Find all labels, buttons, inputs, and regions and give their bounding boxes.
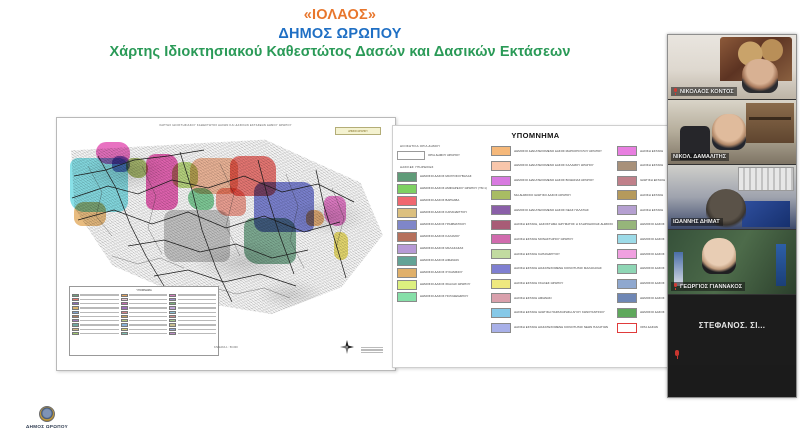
legend-swatch <box>397 268 417 278</box>
map-inset-label <box>80 303 118 304</box>
legend-label: ΔΗΜΟΣΙΟ ΔΙΑΚΑΤΕΧΟΜΕΝΟ ΔΑΣΟΣ ΒΟΘΩΝΑΣ ΩΡΩΠ… <box>514 179 613 182</box>
legend-row: ΔΗΜΟΣΙΟ ΔΑΣΟΣ ΚΑΛΑΜΟΥ <box>397 231 487 243</box>
legend-row: ΔΗΜΟΣΙΟ ΔΙΑΚΑΤΕΧΟΜΕΝΟ ΔΑΣΟΣ ΜΑΡΚΟΠΟΥΛΟΥ … <box>491 144 613 159</box>
map-inset-legend-row <box>72 294 119 297</box>
legend-swatch <box>491 279 511 289</box>
municipality-seal-icon <box>39 406 55 422</box>
legend-subheading-admin: ΔΙΟΙΚΗΤΙΚΑ ΟΡΙΑ ΔΗΜΟΥ <box>400 144 487 148</box>
map-inset-swatch <box>121 328 128 331</box>
legend-row-boundary: ΟΡΙΑ ΔΗΜΟΥ ΩΡΩΠΟΥ <box>397 149 487 162</box>
map-region-orange-e <box>306 210 324 226</box>
map-inset-legend-row <box>169 306 216 309</box>
map-inset-legend: ΥΠΟΜΝΗΜΑ <box>69 286 219 356</box>
legend-row: ΔΗΜΟΣΙΟ ΔΑΣΟΣ ΚΑΠΑΝΔΡΙΤΙΟΥ <box>397 207 487 219</box>
map-inset-label <box>80 333 118 334</box>
map-inset-swatch <box>72 298 79 301</box>
map-inset-swatch <box>121 332 128 335</box>
map-inset-legend-row <box>121 294 168 297</box>
legend-swatch <box>617 220 637 230</box>
legend-row: ΔΑΣΙΚΗ ΕΚΤΑΣΗ ΔΙΑΚΑΤΕΧΟΜΕΝΗ ΚΟΙΝΟΤΗΤΑΣ Μ… <box>491 262 613 277</box>
legend-label: ΔΑΣΙΚΗ ΕΚΤΑΣΗ ΔΙΑΚΑΤΕΧΟΜΕΝΗ ΚΟΙΝΟΤΗΤΑΣ Ν… <box>514 326 613 329</box>
map-inset-label <box>80 329 118 330</box>
legend-label: ΔΗΜΟΣΙΟ ΔΑΣΟΣ ΜΑΛΑΚΑΣΑΣ <box>420 247 487 250</box>
map-inset-swatch <box>72 294 79 297</box>
map-inset-swatch <box>169 332 176 335</box>
map-credit-block <box>361 347 383 354</box>
legend-swatch <box>491 249 511 259</box>
map-inset-legend-row <box>121 311 168 314</box>
map-inset-swatch <box>72 323 79 326</box>
map-inset-legend-columns <box>70 292 218 336</box>
map-inset-swatch <box>121 311 128 314</box>
legend-row: ΔΑΣΙΚΗ ΕΚΤΑΣΗ ΔΙΑΚΑΤΕΧΟΜΕΝΗ ΚΟΙΝΟΤΗΤΑΣ Ν… <box>491 320 613 335</box>
legend-panel[interactable]: ΥΠΟΜΝΗΜΑ ΔΙΟΙΚΗΤΙΚΑ ΟΡΙΑ ΔΗΜΟΥ ΟΡΙΑ ΔΗΜΟ… <box>392 125 679 368</box>
map-region-magenta-e <box>324 196 346 226</box>
legend-swatch <box>397 208 417 218</box>
video-participants-panel[interactable]: ΝΙΚΟΛΑΟΣ ΚΟΝΤΟΣ ΝΙΚΟΛ. ΔΑΜΑΛΙΤΗΣ ΙΩΑΝΝΗΣ… <box>667 34 797 398</box>
map-inset-label <box>178 316 216 317</box>
map-inset-legend-row <box>169 315 216 318</box>
microphone-muted-icon <box>673 88 678 95</box>
map-stamp: ΔΗΜΟΣ ΩΡΩΠΟΥ <box>335 127 381 135</box>
legend-label: ΔΗΜΟΣΙΟ ΔΙΑΚΑΤΕΧΟΜΕΝΟ ΔΑΣΟΣ ΚΑΛΑΜΟΥ ΩΡΩΠ… <box>514 164 613 167</box>
legend-swatch <box>397 292 417 302</box>
legend-swatch <box>397 232 417 242</box>
legend-swatch <box>397 196 417 206</box>
map-inset-legend-row <box>121 323 168 326</box>
map-inset-legend-row <box>169 323 216 326</box>
map-inset-legend-column <box>72 294 119 336</box>
map-region-orange-sw <box>74 202 106 226</box>
legend-row: ΔΗΜΟΣΙΟ ΔΑΣΟΣ ΣΚΑΛΑΣ ΩΡΩΠΟΥ <box>397 279 487 291</box>
map-inset-swatch <box>169 319 176 322</box>
map-inset-swatch <box>72 319 79 322</box>
legend-row: ΔΗΜΟΣΙΟ ΔΙΑΚΑΤΕΧΟΜΕΝΟ ΔΑΣΟΣ ΒΟΘΩΝΑΣ ΩΡΩΠ… <box>491 173 613 188</box>
legend-column-1: ΔΙΟΙΚΗΤΙΚΑ ΟΡΙΑ ΔΗΜΟΥ ΟΡΙΑ ΔΗΜΟΥ ΩΡΩΠΟΥ … <box>397 144 487 335</box>
title-line-subject: Χάρτης Ιδιοκτησιακού Καθεστώτος Δασών κα… <box>0 43 680 62</box>
legend-swatch <box>617 176 637 186</box>
legend-label: ΔΗΜΟΣΙΟ ΔΑΣΟΣ ΒΑΡΝΑΒΑ <box>420 199 487 202</box>
legend-label: ΜΗ ΔΗΜΟΣΙΟ ΙΔΙΩΤΙΚΟ ΔΑΣΟΣ ΩΡΩΠΟΥ <box>514 194 613 197</box>
map-inset-label <box>178 307 216 308</box>
legend-row: ΔΗΜΟΣΙΟ ΔΑΣΟΣ ΓΡΑΜΜΑΤΙΚΟΥ <box>397 219 487 231</box>
map-inset-label <box>178 324 216 325</box>
legend-row: ΔΗΜΟΣΙΟ ΔΑΣΟΣ ΑΜΦΙΑΡΕΙΟΥ ΩΡΩΠΟΥ (ΤΜ 1) <box>397 183 487 195</box>
map-inset-legend-row <box>169 302 216 305</box>
legend-column-2: ΔΗΜΟΣΙΟ ΔΙΑΚΑΤΕΧΟΜΕΝΟ ΔΑΣΟΣ ΜΑΡΚΟΠΟΥΛΟΥ … <box>491 144 613 335</box>
map-inset-swatch <box>121 298 128 301</box>
map-inset-legend-row <box>72 328 119 331</box>
map-region-yellow-se <box>334 232 348 260</box>
map-inset-label <box>80 307 118 308</box>
legend-swatch <box>617 161 637 171</box>
map-inset-legend-row <box>72 298 119 301</box>
map-inset-label <box>80 299 118 300</box>
legend-swatch <box>491 308 511 318</box>
map-inset-legend-row <box>169 298 216 301</box>
legend-row: ΜΗ ΔΗΜΟΣΙΟ ΙΔΙΩΤΙΚΟ ΔΑΣΟΣ ΩΡΩΠΟΥ <box>491 188 613 203</box>
flag-right <box>776 244 786 286</box>
map-inset-label <box>178 329 216 330</box>
map-inset-legend-row <box>72 302 119 305</box>
map-inset-label <box>178 320 216 321</box>
legend-label: ΔΑΣΙΚΗ ΕΚΤΑΣΗ ΜΟΝΑΣΤΗΡΙΟΥ ΩΡΩΠΟΥ <box>514 238 613 241</box>
legend-label: ΔΗΜΟΣΙΟ ΔΑΣΟΣ ΑΜΦΙΑΡΕΙΟΥ ΩΡΩΠΟΥ (ΤΜ 1) <box>420 187 487 190</box>
legend-swatch <box>491 146 511 156</box>
video-tile-1[interactable]: ΝΙΚΟΛΑΟΣ ΚΟΝΤΟΣ <box>668 35 796 100</box>
legend-row: ΔΑΣΙΚΗ ΕΚΤΑΣΗ, ΔΑΣΟΚΤΗΜΑ ΙΔΡΥΜΑΤΟΣ Η ΚΛΗ… <box>491 217 613 232</box>
participant-avatar-4 <box>702 238 736 274</box>
map-inset-label <box>129 312 167 313</box>
map-inset-label <box>80 312 118 313</box>
legend-swatch <box>491 205 511 215</box>
participant-name-1: ΝΙΚΟΛΑΟΣ ΚΟΝΤΟΣ <box>680 89 734 95</box>
map-inset-swatch <box>72 306 79 309</box>
participant-namebar-1: ΝΙΚΟΛΑΟΣ ΚΟΝΤΟΣ <box>671 87 737 96</box>
legend-swatch <box>491 234 511 244</box>
legend-row: ΔΑΣΙΚΗ ΕΚΤΑΣΗ ΣΚΑΛΕΣ ΩΡΩΠΟΥ <box>491 276 613 291</box>
title-line-municipality: ΔΗΜΟΣ ΩΡΩΠΟΥ <box>0 25 680 44</box>
map-inset-legend-row <box>169 294 216 297</box>
title-line-project: «ΙΟΛΑΟΣ» <box>0 6 680 25</box>
participant-namebar-3: ΙΩΑΝΝΗΣ ΔΗΜΑΤ <box>671 218 723 226</box>
legend-row: ΔΑΣΙΚΗ ΕΚΤΑΣΗ ΑΦΙΔΝΩΝ <box>491 291 613 306</box>
map-region-grey-s <box>164 210 230 262</box>
map-inset-label <box>178 299 216 300</box>
legend-rows-1: ΔΗΜΟΣΙΟ ΔΑΣΟΣ ΜΑΥΡΟΣΟΥΒΑΛΑΣΔΗΜΟΣΙΟ ΔΑΣΟΣ… <box>397 171 487 303</box>
legend-swatch <box>491 190 511 200</box>
participant-avatar-1 <box>742 59 778 93</box>
map-inset-swatch <box>72 328 79 331</box>
map-inset-legend-row <box>72 311 119 314</box>
legend-swatch <box>491 293 511 303</box>
municipality-logo-label: ΔΗΜΟΣ ΩΡΩΠΟΥ <box>8 424 86 429</box>
legend-swatch <box>617 249 637 259</box>
participant-avatar-2 <box>712 114 746 150</box>
map-inset-swatch <box>121 323 128 326</box>
slide-stage: «ΙΟΛΑΟΣ» ΔΗΜΟΣ ΩΡΩΠΟΥ Χάρτης Ιδιοκτησιακ… <box>0 0 800 435</box>
legend-row: ΔΗΜΟΣΙΟ ΔΙΑΚΑΤΕΧΟΜΕΝΟ ΔΑΣΟΣ ΚΑΛΑΜΟΥ ΩΡΩΠ… <box>491 159 613 174</box>
blue-backdrop <box>742 201 790 227</box>
map-inset-swatch <box>121 302 128 305</box>
microphone-muted-icon <box>674 350 680 359</box>
video-tile-2[interactable]: ΝΙΚΟΛ. ΔΑΜΑΛΙΤΗΣ <box>668 100 796 165</box>
map-inset-swatch <box>72 311 79 314</box>
legend-swatch <box>397 280 417 290</box>
map-inset-legend-column <box>169 294 216 336</box>
map-inset-swatch <box>169 311 176 314</box>
legend-label: ΔΑΣΙΚΗ ΕΚΤΑΣΗ ΔΙΑΚΑΤΕΧΟΜΕΝΗ ΚΟΙΝΟΤΗΤΑΣ Μ… <box>514 267 613 270</box>
legend-swatch <box>491 323 511 333</box>
legend-swatch <box>617 308 637 318</box>
legend-label: ΔΗΜΟΣΙΟ ΔΑΣΟΣ ΓΡΑΜΜΑΤΙΚΟΥ <box>420 223 487 226</box>
legend-swatch <box>397 256 417 266</box>
map-inset-legend-row <box>121 319 168 322</box>
legend-swatch <box>617 190 637 200</box>
map-inset-legend-row <box>72 315 119 318</box>
legend-swatch <box>491 176 511 186</box>
participant-name-2: ΝΙΚΟΛ. ΔΑΜΑΛΙΤΗΣ <box>673 154 726 160</box>
legend-label-boundary: ΟΡΙΑ ΔΗΜΟΥ ΩΡΩΠΟΥ <box>428 154 487 157</box>
map-canvas: ΧΑΡΤΗΣ ΙΔΙΟΚΤΗΣΙΑΚΟΥ ΚΑΘΕΣΤΩΤΟΣ ΔΑΣΩΝ ΚΑ… <box>62 123 389 365</box>
map-inset-swatch <box>121 294 128 297</box>
microphone-muted-icon <box>673 283 678 290</box>
map-inset-label <box>178 303 216 304</box>
map-inset-label <box>178 294 216 295</box>
map-inset-legend-row <box>72 332 119 335</box>
map-inset-legend-row <box>72 319 119 322</box>
municipality-logo: ΔΗΜΟΣ ΩΡΩΠΟΥ <box>8 406 86 429</box>
map-inset-swatch <box>169 315 176 318</box>
map-inset-legend-row <box>72 323 119 326</box>
map-inset-swatch <box>169 323 176 326</box>
map-inset-swatch <box>72 302 79 305</box>
legend-row: ΔΗΜΟΣΙΟ ΔΑΣΟΣ ΒΑΡΝΑΒΑ <box>397 195 487 207</box>
map-inset-label <box>80 324 118 325</box>
map-region-olive-n <box>126 158 148 178</box>
video-tile-3[interactable]: ΙΩΑΝΝΗΣ ΔΗΜΑΤ <box>668 165 796 230</box>
map-inset-label <box>80 294 118 295</box>
map-inset-swatch <box>121 315 128 318</box>
compass-rose-icon <box>339 339 355 355</box>
legend-label: ΔΗΜΟΣΙΟ ΔΙΑΚΑΤΕΧΟΜΕΝΟ ΔΑΣΟΣ ΜΑΡΚΟΠΟΥΛΟΥ … <box>514 150 613 153</box>
legend-label: ΔΑΣΙΚΗ ΕΚΤΑΣΗ, ΔΑΣΟΚΤΗΜΑ ΙΔΡΥΜΑΤΟΣ Η ΚΛΗ… <box>514 223 613 226</box>
map-inset-legend-row <box>169 319 216 322</box>
map-inset-legend-row <box>121 328 168 331</box>
map-inset-legend-row <box>169 311 216 314</box>
legend-label: ΔΗΜΟΣΙΟ ΔΑΣΟΣ ΠΟΛΥΔΕΝΔΡΙΟΥ <box>420 295 487 298</box>
legend-swatch <box>617 205 637 215</box>
map-inset-swatch <box>169 306 176 309</box>
map-inset-swatch <box>72 315 79 318</box>
map-inset-legend-row <box>121 315 168 318</box>
map-inset-label <box>129 324 167 325</box>
storage-cabinet <box>738 167 794 191</box>
legend-swatch <box>617 279 637 289</box>
video-tile-active-speaker[interactable]: ΣΤΕΦΑΝΟΣ. ΣΙ... <box>668 295 796 365</box>
map-inset-label <box>80 316 118 317</box>
legend-label: ΔΗΜΟΣΙΟ ΔΑΣΟΣ ΣΥΚΑΜΙΝΟΥ <box>420 271 487 274</box>
participant-name-3: ΙΩΑΝΝΗΣ ΔΗΜΑΤ <box>673 219 720 225</box>
map-inset-legend-column <box>121 294 168 336</box>
map-scale-text: ΚΛΙΜΑΚΑ 1 : 50.000 <box>214 346 238 349</box>
legend-label: ΔΗΜΟΣΙΟ ΔΑΣΟΣ ΑΦΙΔΝΩΝ <box>420 259 487 262</box>
map-inset-label <box>178 333 216 334</box>
map-inset-label <box>178 312 216 313</box>
map-inset-legend-row <box>169 332 216 335</box>
legend-swatch <box>617 323 637 333</box>
forest-ownership-map[interactable]: ΧΑΡΤΗΣ ΙΔΙΟΚΤΗΣΙΑΚΟΥ ΚΑΘΕΣΤΩΤΟΣ ΔΑΣΩΝ ΚΑ… <box>56 117 396 371</box>
map-inset-legend-row <box>72 306 119 309</box>
legend-swatch <box>491 264 511 274</box>
map-inset-label <box>129 333 167 334</box>
presentation-title-block: «ΙΟΛΑΟΣ» ΔΗΜΟΣ ΩΡΩΠΟΥ Χάρτης Ιδιοκτησιακ… <box>0 6 680 62</box>
legend-label: ΔΑΣΙΚΗ ΕΚΤΑΣΗ ΣΚΑΛΕΣ ΩΡΩΠΟΥ <box>514 282 613 285</box>
legend-label: ΔΗΜΟΣΙΟ ΔΑΣΟΣ ΜΑΥΡΟΣΟΥΒΑΛΑΣ <box>420 175 487 178</box>
map-inset-swatch <box>72 332 79 335</box>
legend-title: ΥΠΟΜΝΗΜΑ <box>393 131 678 140</box>
map-inset-label <box>129 320 167 321</box>
legend-row: ΔΗΜΟΣΙΟ ΔΑΣΟΣ ΜΑΛΑΚΑΣΑΣ <box>397 243 487 255</box>
map-inset-swatch <box>121 306 128 309</box>
legend-row: ΔΗΜΟΣΙΟ ΔΑΣΟΣ ΠΟΛΥΔΕΝΔΡΙΟΥ <box>397 291 487 303</box>
map-inset-legend-row <box>121 302 168 305</box>
map-inset-label <box>129 294 167 295</box>
legend-swatch <box>397 184 417 194</box>
legend-label: ΔΗΜΟΣΙΟ ΔΙΑΚΑΤΕΧΟΜΕΝΟ ΔΑΣΟΣ ΝΕΑΣ ΠΑΛΑΤΙΑ… <box>514 209 613 212</box>
legend-swatch <box>617 146 637 156</box>
legend-row: ΔΑΣΙΚΗ ΕΚΤΑΣΗ ΚΑΠΑΝΔΡΙΤΙΟΥ <box>491 247 613 262</box>
legend-label: ΔΑΣΙΚΗ ΕΚΤΑΣΗ ΑΦΙΔΝΩΝ <box>514 297 613 300</box>
map-inset-label <box>129 299 167 300</box>
map-inset-swatch <box>121 319 128 322</box>
participant-name-4: ΓΕΩΡΓΙΟΣ ΓΙΑΝΝΑΚΟΣ <box>680 284 742 290</box>
legend-swatch <box>617 234 637 244</box>
legend-swatch <box>491 161 511 171</box>
map-inset-swatch <box>169 294 176 297</box>
map-inset-legend-row <box>121 332 168 335</box>
legend-label: ΔΑΣΙΚΗ ΕΚΤΑΣΗ ΙΔΙΩΤΙΚΗ ΠΑΡΑΧΩΡΗΣΗ ΑΓΙΟΥ … <box>514 311 613 314</box>
legend-swatch <box>491 220 511 230</box>
legend-swatch <box>397 172 417 182</box>
map-inset-label <box>129 316 167 317</box>
legend-label: ΔΗΜΟΣΙΟ ΔΑΣΟΣ ΣΚΑΛΑΣ ΩΡΩΠΟΥ <box>420 283 487 286</box>
legend-label: ΔΗΜΟΣΙΟ ΔΑΣΟΣ ΚΑΛΑΜΟΥ <box>420 235 487 238</box>
legend-swatch <box>397 220 417 230</box>
legend-row: ΔΗΜΟΣΙΟ ΔΑΣΟΣ ΣΥΚΑΜΙΝΟΥ <box>397 267 487 279</box>
legend-swatch-boundary <box>397 151 425 160</box>
legend-row: ΔΗΜΟΣΙΟ ΔΑΣΟΣ ΑΦΙΔΝΩΝ <box>397 255 487 267</box>
map-region-green-c <box>188 188 214 210</box>
video-tile-4[interactable]: ΓΕΩΡΓΙΟΣ ΓΙΑΝΝΑΚΟΣ <box>668 230 796 295</box>
legend-row: ΔΗΜΟΣΙΟ ΔΑΣΟΣ ΜΑΥΡΟΣΟΥΒΑΛΑΣ <box>397 171 487 183</box>
map-inset-legend-row <box>121 298 168 301</box>
legend-row: ΔΗΜΟΣΙΟ ΔΙΑΚΑΤΕΧΟΜΕΝΟ ΔΑΣΟΣ ΝΕΑΣ ΠΑΛΑΤΙΑ… <box>491 203 613 218</box>
legend-row: ΔΑΣΙΚΗ ΕΚΤΑΣΗ ΙΔΙΩΤΙΚΗ ΠΑΡΑΧΩΡΗΣΗ ΑΓΙΟΥ … <box>491 306 613 321</box>
map-inset-swatch <box>169 328 176 331</box>
participant-namebar-4: ΓΕΩΡΓΙΟΣ ΓΙΑΝΝΑΚΟΣ <box>671 282 745 291</box>
map-inset-label <box>129 303 167 304</box>
map-inset-label <box>80 320 118 321</box>
legend-swatch <box>617 293 637 303</box>
map-inset-legend-row <box>121 306 168 309</box>
legend-swatch <box>397 244 417 254</box>
legend-label: ΔΗΜΟΣΙΟ ΔΑΣΟΣ ΚΑΠΑΝΔΡΙΤΙΟΥ <box>420 211 487 214</box>
legend-swatch <box>617 264 637 274</box>
flag-left <box>674 252 683 286</box>
map-inset-label <box>129 307 167 308</box>
map-inset-label <box>129 329 167 330</box>
bookshelf <box>746 103 794 143</box>
map-inset-legend-row <box>169 328 216 331</box>
legend-rows-2: ΔΗΜΟΣΙΟ ΔΙΑΚΑΤΕΧΟΜΕΝΟ ΔΑΣΟΣ ΜΑΡΚΟΠΟΥΛΟΥ … <box>491 144 613 335</box>
active-speaker-name: ΣΤΕΦΑΝΟΣ. ΣΙ... <box>668 321 796 330</box>
legend-label: ΔΑΣΙΚΗ ΕΚΤΑΣΗ ΚΑΠΑΝΔΡΙΤΙΟΥ <box>514 253 613 256</box>
legend-subheading-services: ΔΑΣΙΚΕΣ ΥΠΗΡΕΣΙΕΣ <box>400 165 487 169</box>
map-region-teal-s <box>244 218 296 264</box>
participant-namebar-2: ΝΙΚΟΛ. ΔΑΜΑΛΙΤΗΣ <box>671 153 729 161</box>
legend-row: ΔΑΣΙΚΗ ΕΚΤΑΣΗ ΜΟΝΑΣΤΗΡΙΟΥ ΩΡΩΠΟΥ <box>491 232 613 247</box>
map-inset-swatch <box>169 302 176 305</box>
map-inset-swatch <box>169 298 176 301</box>
